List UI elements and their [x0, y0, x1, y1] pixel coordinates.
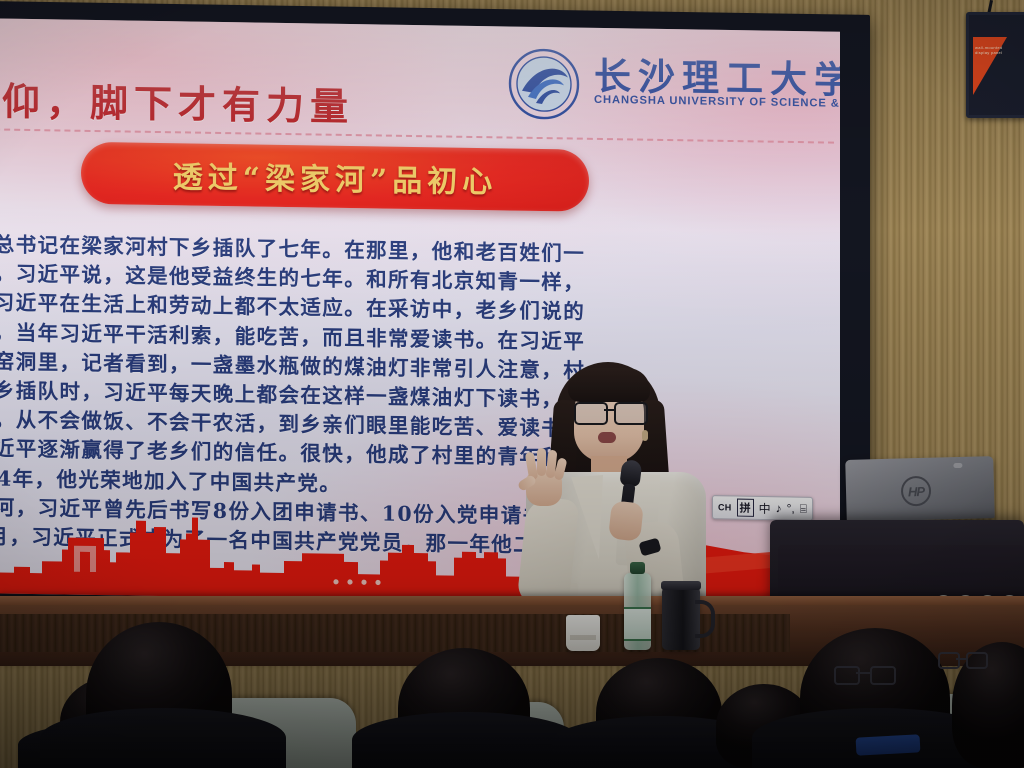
lecture-hall-scene: wall-mounted display panel 长沙理工大学 CHANGS…: [0, 0, 1024, 768]
room-shading: [0, 0, 1024, 768]
